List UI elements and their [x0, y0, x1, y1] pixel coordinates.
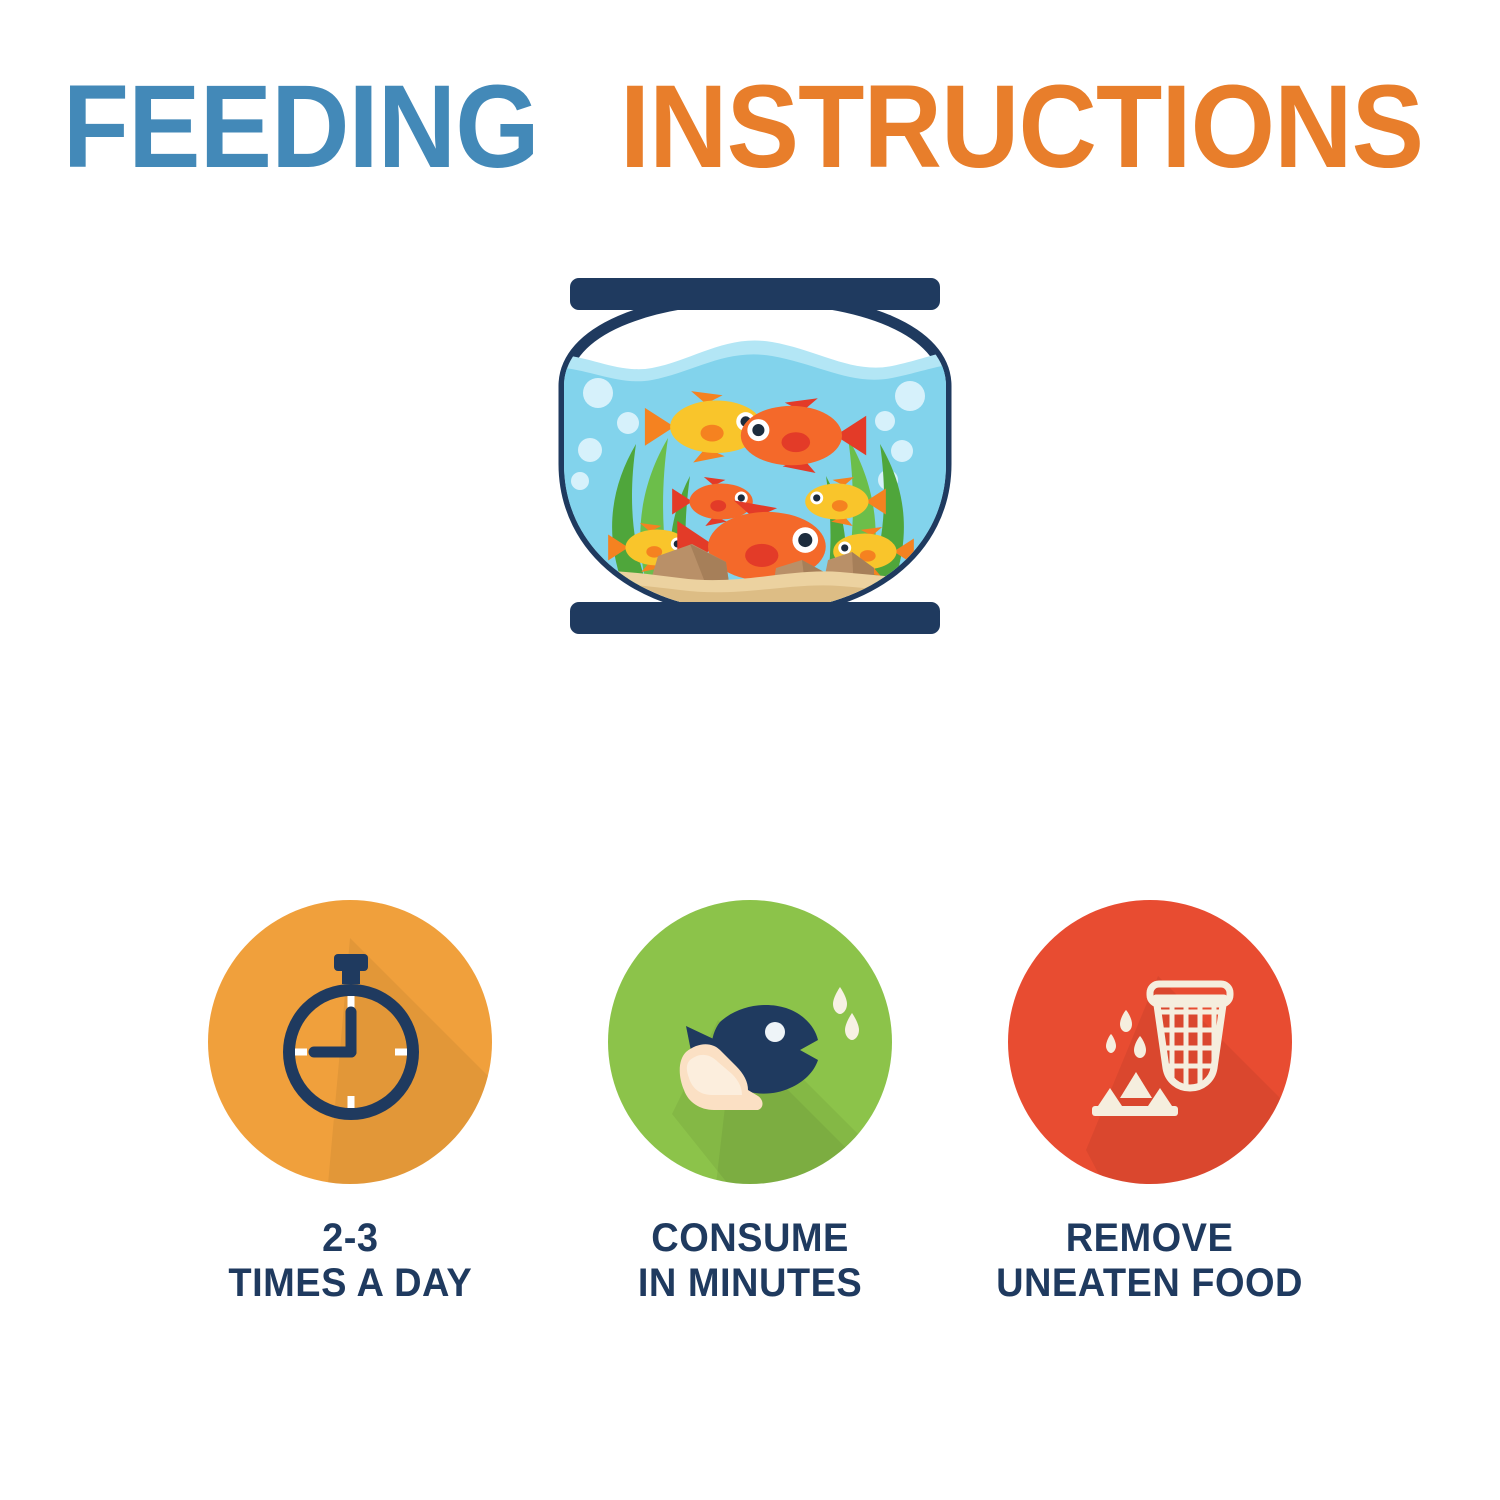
step-remove-line2: UNEATEN FOOD [997, 1261, 1304, 1306]
step-frequency[interactable]: 2-3 TIMES A DAY [150, 900, 550, 1306]
title-word-feeding: FEEDING [62, 68, 538, 186]
title-word-instructions: INSTRUCTIONS [620, 68, 1423, 186]
steps-row: 2-3 TIMES A DAY [0, 900, 1500, 1320]
infographic-page: FEEDINGINSTRUCTIONS [0, 0, 1500, 1500]
step-remove-line1: REMOVE [997, 1216, 1304, 1261]
step-consume-label: CONSUME IN MINUTES [638, 1216, 862, 1306]
step-frequency-line2: TIMES A DAY [228, 1261, 472, 1306]
step-consume-line1: CONSUME [638, 1216, 862, 1261]
step-consume[interactable]: CONSUME IN MINUTES [550, 900, 950, 1306]
page-title: FEEDINGINSTRUCTIONS [0, 68, 1500, 186]
step-frequency-badge[interactable] [208, 900, 492, 1184]
step-remove[interactable]: REMOVE UNEATEN FOOD [950, 900, 1350, 1306]
bowl-base-stand [570, 602, 940, 634]
step-consume-line2: IN MINUTES [638, 1261, 862, 1306]
step-remove-badge[interactable] [1008, 900, 1292, 1184]
bowl-top-rim [570, 278, 940, 310]
step-consume-badge[interactable] [608, 900, 892, 1184]
hand-feeding-fish-icon [680, 987, 859, 1110]
step-frequency-line1: 2-3 [228, 1216, 472, 1261]
step-remove-label: REMOVE UNEATEN FOOD [997, 1216, 1304, 1306]
fishbowl-illustration [540, 268, 970, 644]
step-frequency-label: 2-3 TIMES A DAY [228, 1216, 472, 1306]
